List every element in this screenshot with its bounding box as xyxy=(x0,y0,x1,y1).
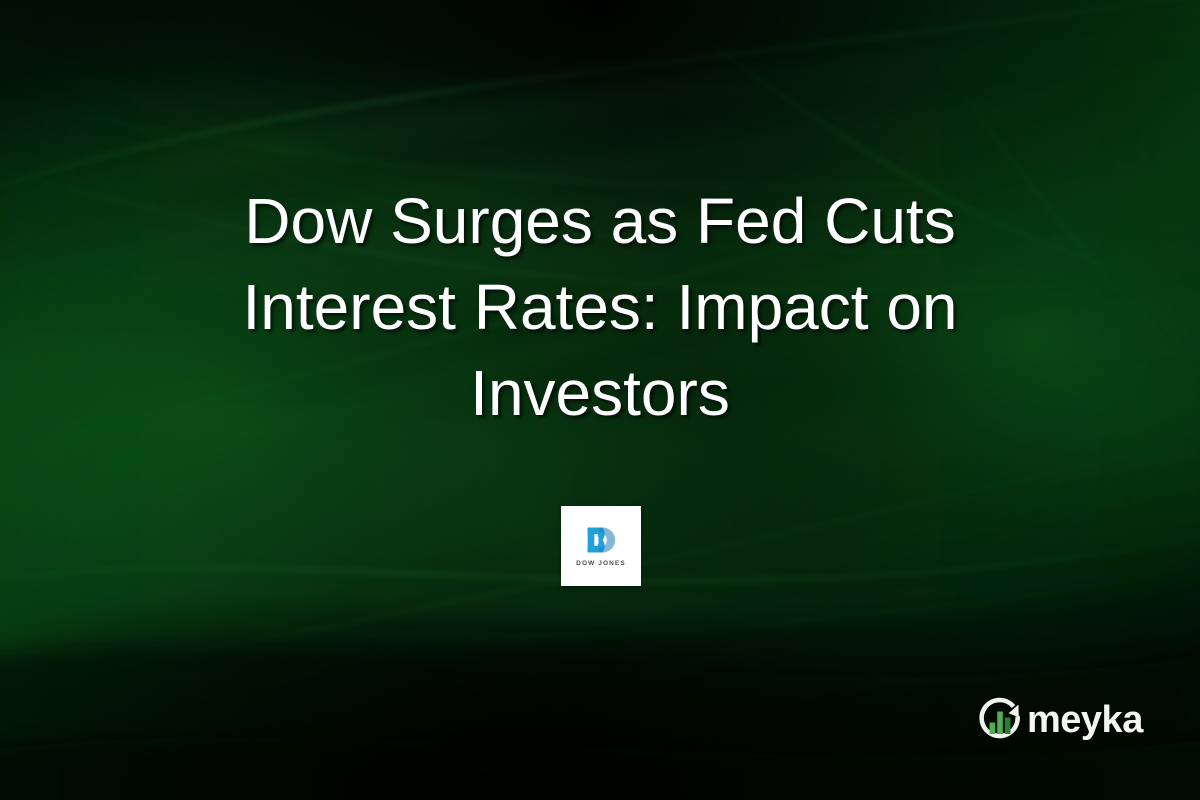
headline-line-2: Interest Rates: Impact on xyxy=(100,264,1100,350)
dow-jones-logo-icon xyxy=(584,525,618,555)
share-card-canvas: Dow Surges as Fed Cuts Interest Rates: I… xyxy=(0,0,1200,800)
dow-jones-wordmark: DOW JONES xyxy=(576,561,626,568)
headline: Dow Surges as Fed Cuts Interest Rates: I… xyxy=(100,178,1100,436)
brand-name: meyka xyxy=(1027,701,1143,739)
meyka-circular-bar-chart-icon xyxy=(975,694,1027,746)
headline-line-1: Dow Surges as Fed Cuts xyxy=(100,178,1100,264)
brand-lockup: meyka xyxy=(975,694,1143,746)
headline-line-3: Investors xyxy=(100,350,1100,436)
source-logo-card: DOW JONES xyxy=(561,506,641,586)
